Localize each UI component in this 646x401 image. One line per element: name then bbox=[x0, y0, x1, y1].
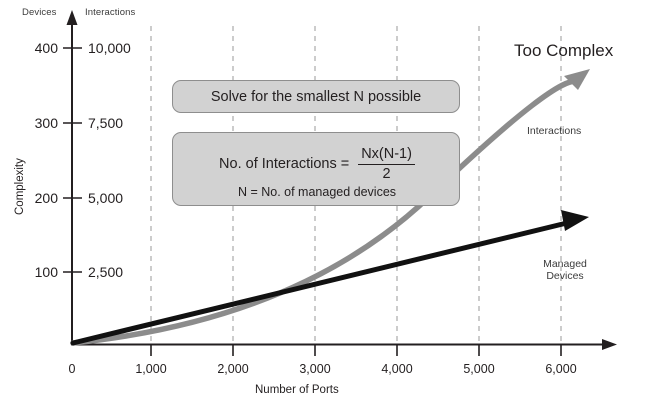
ytick-label-interactions-5000: 5,000 bbox=[88, 191, 123, 205]
annotation-managed-devices-line1: Managed bbox=[543, 258, 587, 270]
y-axis-right-head: Interactions bbox=[85, 8, 135, 18]
ytick-label-interactions-2500: 2,500 bbox=[88, 265, 123, 279]
callout-solve-text: Solve for the smallest N possible bbox=[211, 89, 421, 105]
x-axis bbox=[71, 339, 617, 356]
chart-canvas: Devices Interactions Complexity 400 300 … bbox=[0, 0, 646, 401]
annotation-managed-devices-line2: Devices bbox=[546, 270, 583, 282]
xtick-label-2000: 2,000 bbox=[210, 363, 256, 376]
y-axis-title: Complexity bbox=[14, 158, 26, 215]
formula-numerator: Nx(N-1) bbox=[358, 147, 415, 164]
formula-fraction: Nx(N-1) 2 bbox=[358, 147, 415, 181]
ytick-label-devices-100: 100 bbox=[6, 265, 58, 279]
xtick-label-3000: 3,000 bbox=[292, 363, 338, 376]
xtick-label-6000: 6,000 bbox=[538, 363, 584, 376]
xtick-label-1000: 1,000 bbox=[128, 363, 174, 376]
ytick-label-devices-400: 400 bbox=[6, 41, 58, 55]
formula-row: No. of Interactions = Nx(N-1) 2 bbox=[173, 147, 461, 181]
xtick-label-5000: 5,000 bbox=[456, 363, 502, 376]
x-axis-title: Number of Ports bbox=[255, 385, 339, 397]
series-managed-devices-line bbox=[73, 210, 589, 343]
formula-note: N = No. of managed devices bbox=[173, 185, 461, 199]
y-axis-left-head: Devices bbox=[22, 8, 57, 18]
ytick-label-interactions-10000: 10,000 bbox=[88, 41, 131, 55]
formula-denominator: 2 bbox=[383, 165, 391, 182]
ytick-label-devices-200: 200 bbox=[6, 191, 58, 205]
callout-interactions-formula: No. of Interactions = Nx(N-1) 2 N = No. … bbox=[172, 132, 460, 206]
y-axis bbox=[63, 10, 82, 345]
xtick-label-4000: 4,000 bbox=[374, 363, 420, 376]
annotation-too-complex: Too Complex bbox=[514, 42, 613, 59]
xtick-label-0: 0 bbox=[49, 363, 95, 376]
annotation-managed-devices: ManagedDevices bbox=[530, 258, 600, 282]
callout-solve-smallest-n: Solve for the smallest N possible bbox=[172, 80, 460, 113]
ytick-label-devices-300: 300 bbox=[6, 116, 58, 130]
formula-left-hand-side: No. of Interactions = bbox=[219, 156, 349, 172]
annotation-interactions-curve: Interactions bbox=[527, 125, 607, 137]
ytick-label-interactions-7500: 7,500 bbox=[88, 116, 123, 130]
